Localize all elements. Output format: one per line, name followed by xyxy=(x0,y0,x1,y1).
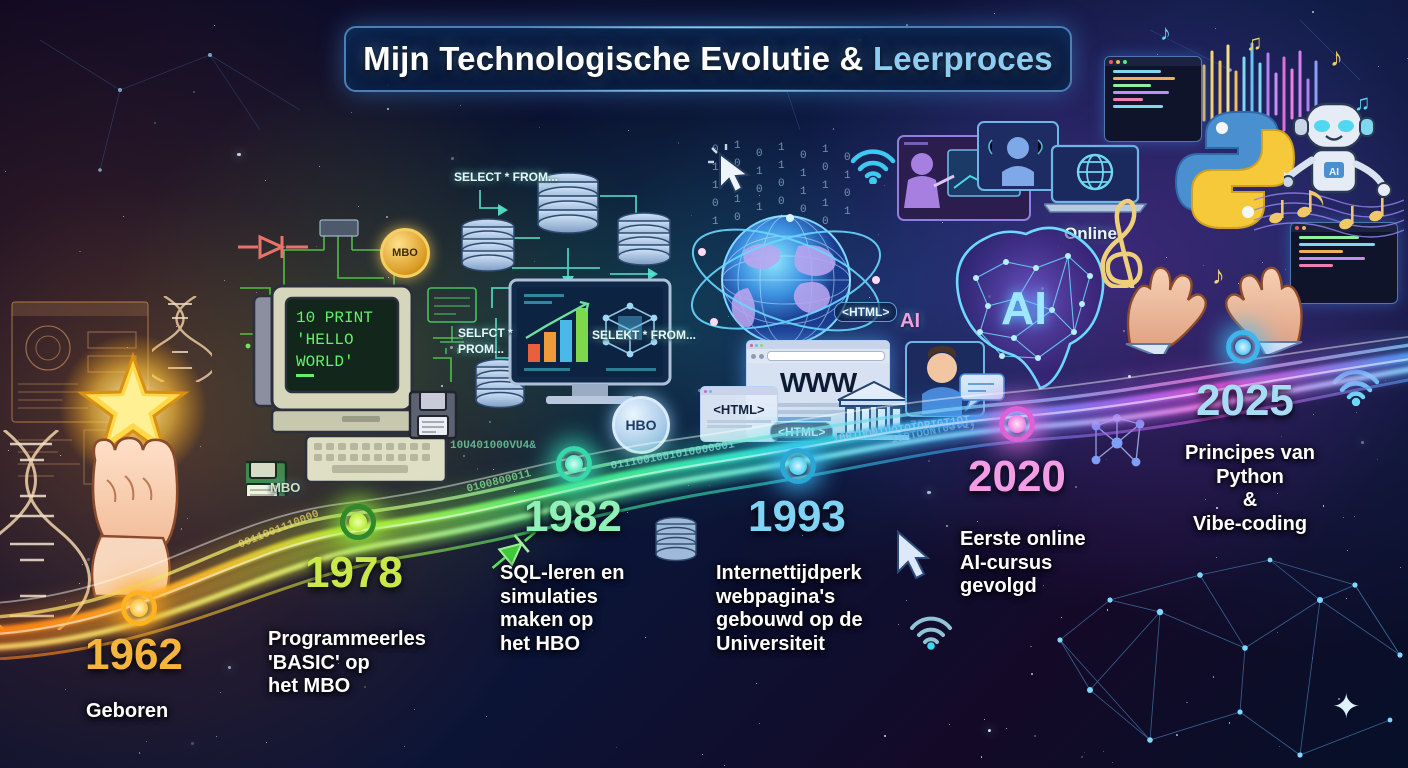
sql-text-1: SELECT * FROM... xyxy=(454,170,558,184)
milestone-desc-1978: Programmeerles 'BASIC' op het MBO xyxy=(268,628,426,699)
infographic-canvas: Mijn Technologische Evolutie & Leerproce… xyxy=(0,0,1408,768)
milestone-year-2020: 2020 xyxy=(968,452,1066,502)
music-note-icon-2: ♫ xyxy=(1246,32,1263,54)
milestone-year-1978: 1978 xyxy=(305,548,403,598)
milestone-desc-1982: SQL-leren en simulaties maken op het HBO xyxy=(500,562,624,656)
ai-brain-label: AI xyxy=(1001,282,1047,334)
page-title: Mijn Technologische Evolutie & Leerproce… xyxy=(363,40,1053,78)
milestone-year-1982: 1982 xyxy=(524,492,622,542)
music-note-icon-3: ♪ xyxy=(1330,44,1343,70)
svg-text:10 PRINT: 10 PRINT xyxy=(296,309,373,327)
svg-text:1: 1 xyxy=(822,144,829,156)
sparkle-icon: ✦ xyxy=(1332,690,1361,724)
diode-icon xyxy=(238,232,308,262)
milestone-desc-1962: Geboren xyxy=(86,700,168,724)
svg-text:1: 1 xyxy=(800,168,807,180)
music-note-icon-4: ♫ xyxy=(1354,92,1371,114)
mbo-medal-label: MBO xyxy=(392,247,418,259)
svg-text:0: 0 xyxy=(756,148,763,160)
mouse-cursor-icon xyxy=(708,144,754,196)
page-title-accent: Leerproces xyxy=(873,40,1053,77)
milestone-year-2025: 2025 xyxy=(1196,376,1294,426)
database-cylinder xyxy=(462,219,514,271)
code-window-titlebar xyxy=(1105,57,1201,66)
wifi-icon xyxy=(848,146,898,184)
svg-text:1: 1 xyxy=(756,166,763,178)
milestone-desc-1993: Internettijdperk webpagina's gebouwd op … xyxy=(716,562,863,656)
milestone-year-1993: 1993 xyxy=(748,492,846,542)
milestone-desc-2025: Principes van Python & Vibe-coding xyxy=(1166,442,1334,536)
timeline-node-1978[interactable] xyxy=(340,504,376,540)
page-title-main: Mijn Technologische Evolutie & xyxy=(363,40,873,77)
music-note-icon-1: ♪ xyxy=(1160,22,1171,44)
svg-text:1: 1 xyxy=(778,142,785,154)
milestone-desc-2020: Eerste online AI-cursus gevolgd xyxy=(960,528,1086,599)
era-2025-illustration: AI ♪ ♫ xyxy=(1094,14,1408,354)
svg-text:1: 1 xyxy=(778,160,785,172)
timeline-node-1962[interactable] xyxy=(121,590,157,626)
milestone-year-1962: 1962 xyxy=(85,630,183,680)
timeline-node-2025[interactable] xyxy=(1226,330,1260,364)
timeline-node-2020[interactable] xyxy=(999,406,1035,442)
page-title-bar: Mijn Technologische Evolutie & Leerproce… xyxy=(344,26,1072,92)
svg-text:0: 0 xyxy=(822,162,829,174)
svg-text:AI: AI xyxy=(1329,167,1339,178)
database-cylinder xyxy=(618,213,670,265)
html-tag-pill-1: <HTML> xyxy=(834,302,897,322)
timeline-node-1993[interactable] xyxy=(780,448,816,484)
svg-text:0: 0 xyxy=(800,150,807,162)
timeline-node-1982[interactable] xyxy=(556,446,592,482)
